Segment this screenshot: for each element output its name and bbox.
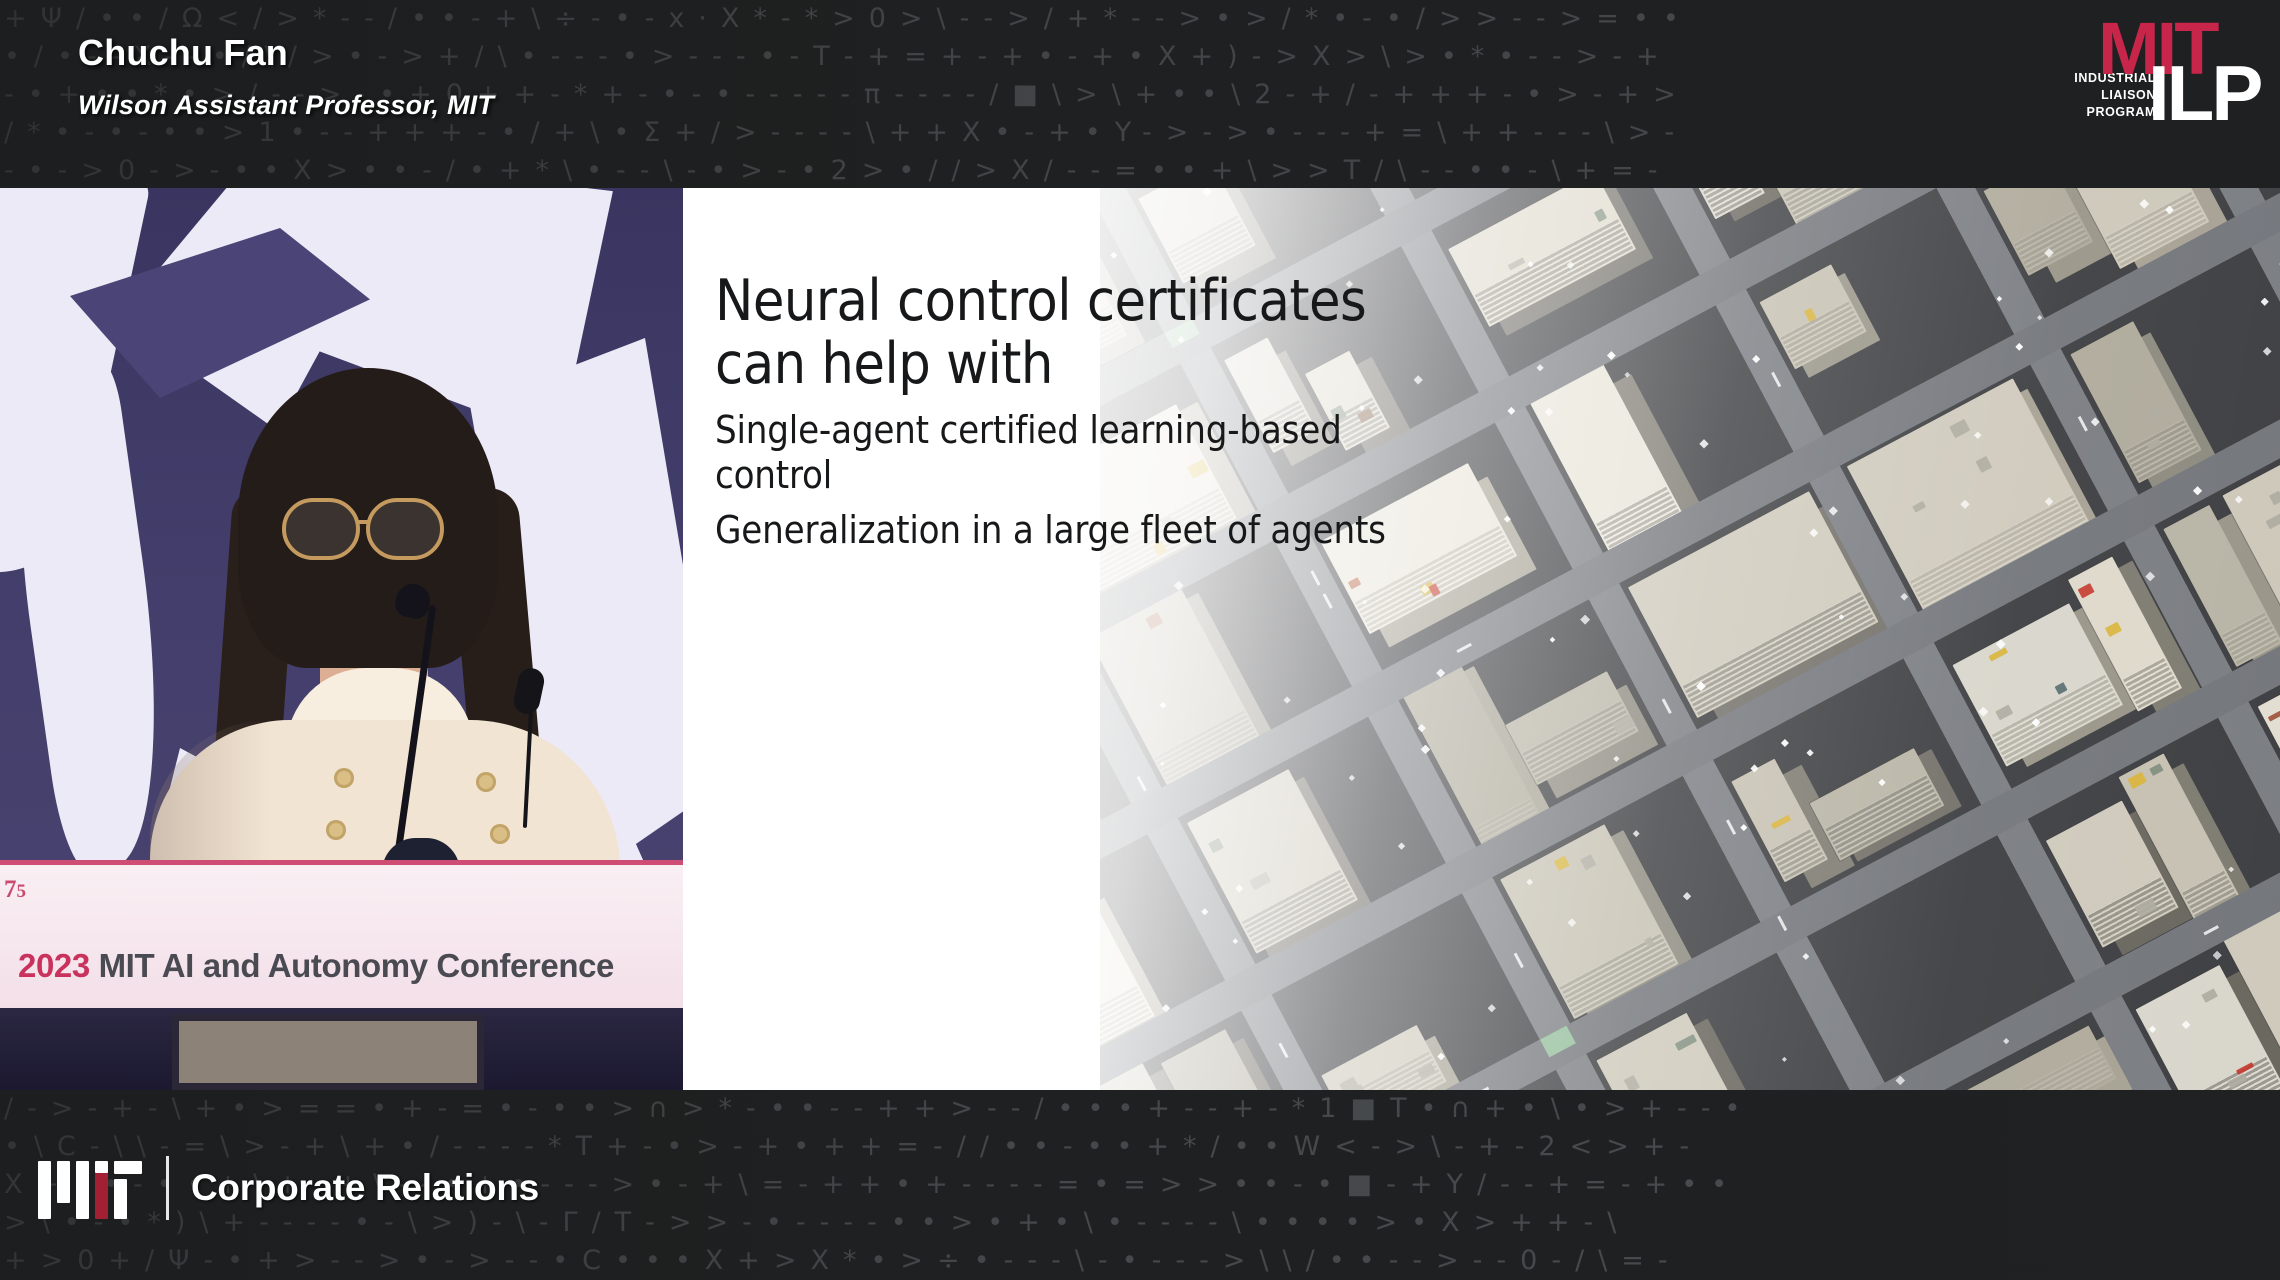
- presentation-stage: +Ψ/••/Ω</>*--/••-+\÷-•-x·X*-*>0>\-->/+*-…: [0, 0, 2280, 1280]
- speaker-video[interactable]: 75 2023 MIT AI and Autonomy Conference: [0, 188, 683, 1090]
- mit-logo-bar: [76, 1161, 89, 1219]
- conference-year: 2023: [18, 947, 90, 984]
- speaker-name: Chuchu Fan: [78, 32, 494, 74]
- podium-anniversary-mark: 75: [4, 877, 26, 902]
- speaker-figure: [160, 368, 620, 928]
- speaker-identity: Chuchu Fan Wilson Assistant Professor, M…: [78, 32, 494, 121]
- footer-brand: Corporate Relations: [38, 1154, 539, 1222]
- glasses-bridge: [359, 520, 369, 524]
- glasses-icon: [366, 498, 444, 560]
- footer-brand-label: Corporate Relations: [191, 1167, 539, 1209]
- header-bar: +Ψ/••/Ω</>*--/••-+\÷-•-x·X*-*>0>\-->/+*-…: [0, 0, 2280, 188]
- mit-logo-bar: [114, 1179, 127, 1219]
- jacket-button: [476, 772, 496, 792]
- podium-banner: 75 2023 MIT AI and Autonomy Conference: [0, 860, 683, 1008]
- ilp-sub-line-3: PROGRAM: [2044, 104, 2156, 121]
- glasses-icon: [282, 498, 360, 560]
- conference-title: 2023 MIT AI and Autonomy Conference: [18, 947, 614, 985]
- podium-panel: [172, 1014, 484, 1090]
- podium-mark-top: 7: [4, 876, 17, 903]
- mit-logo-crossbar: [114, 1161, 142, 1174]
- mit-ilp-logo: INDUSTRIAL LIAISON PROGRAM MIT ILP: [2050, 16, 2250, 126]
- jacket-button: [490, 824, 510, 844]
- speaker-title: Wilson Assistant Professor, MIT: [78, 90, 494, 121]
- mit-logo-bar: [95, 1161, 108, 1173]
- mit-logo-bar: [38, 1161, 51, 1219]
- mit-logo: [38, 1157, 142, 1219]
- content-area: 75 2023 MIT AI and Autonomy Conference N…: [0, 188, 2280, 1090]
- ilp-wordmark: ILP: [2148, 54, 2260, 132]
- slide-bullet: Generalization in a large fleet of agent…: [715, 508, 1415, 553]
- slide-area[interactable]: Neural control certificates can help wit…: [683, 188, 2280, 1090]
- speaker-fringe: [268, 406, 480, 498]
- jacket-button: [334, 768, 354, 788]
- conference-name: MIT AI and Autonomy Conference: [90, 947, 614, 984]
- slide-title: Neural control certificates can help wit…: [715, 270, 1415, 395]
- slide-bullet: Single-agent certified learning-based co…: [715, 408, 1415, 498]
- podium-mark-bottom: 5: [17, 881, 27, 902]
- jacket-button: [326, 820, 346, 840]
- podium-banner-gradient: [0, 865, 683, 1008]
- mit-logo-bar: [57, 1161, 70, 1203]
- footer-bar: /->-+-\+•>==•+-=•-••>∩>*-••--++>--/•••+-…: [0, 1090, 2280, 1280]
- footer-divider: [166, 1156, 169, 1220]
